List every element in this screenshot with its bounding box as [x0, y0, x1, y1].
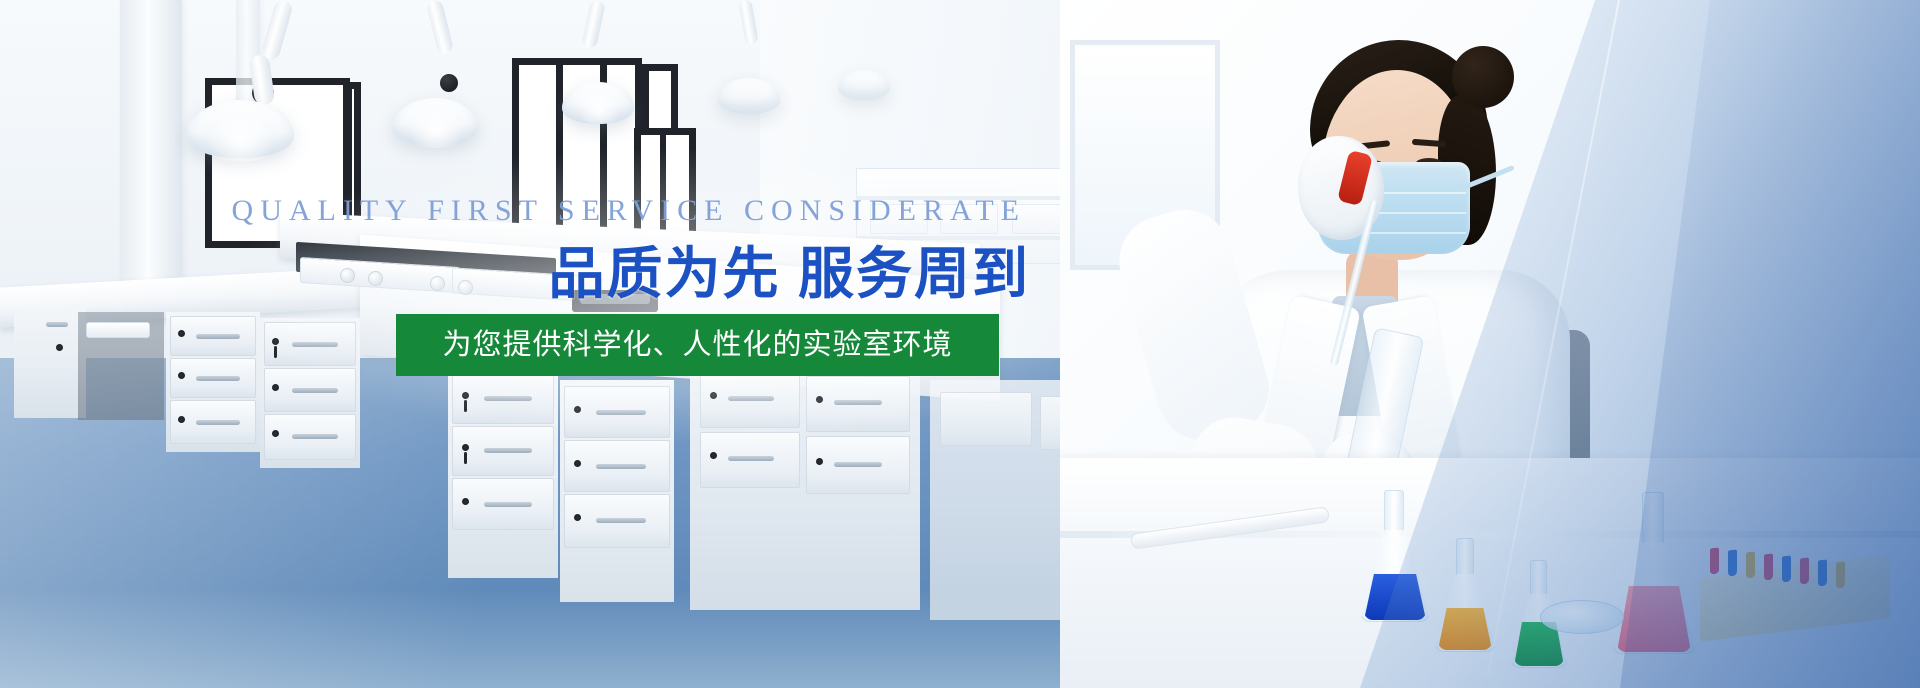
banner-eyebrow-english: QUALITY FIRST SERVICE CONSIDERATE [0, 196, 1030, 226]
fume-arm-joint [440, 74, 458, 92]
cabinet-lock [56, 344, 63, 351]
lamp-glow [402, 112, 470, 148]
hair-bun [1452, 46, 1514, 108]
drawer-lock [574, 514, 581, 521]
drawer-key [464, 452, 467, 464]
drawer-lock [710, 452, 717, 459]
lamp-glow [572, 94, 626, 124]
drawer-lock [178, 330, 185, 337]
drawer-lock [574, 460, 581, 467]
drawer-handle [596, 518, 646, 523]
drawer-lock [816, 458, 823, 465]
drawer-lock [462, 444, 469, 451]
drawer-handle [834, 462, 882, 467]
banner-subtitle-text: 为您提供科学化、人性化的实验室环境 [442, 331, 952, 360]
drawer-handle [484, 448, 532, 453]
drawer-lock [178, 416, 185, 423]
drawer-lock [178, 372, 185, 379]
hero-banner: QUALITY FIRST SERVICE CONSIDERATE 品质为先 服… [0, 0, 1920, 688]
drawer-lock [462, 498, 469, 505]
banner-copy: QUALITY FIRST SERVICE CONSIDERATE 品质为先 服… [0, 196, 1030, 304]
dome-lamp [838, 70, 890, 100]
drawer-handle [484, 502, 532, 507]
banner-headline: 品质为先 服务周到 [0, 244, 1030, 304]
cabinet-handle [46, 322, 68, 327]
drawer-handle [596, 464, 646, 469]
bench-tray [86, 322, 150, 338]
dome-lamp [718, 78, 780, 114]
drawer-handle [728, 456, 774, 461]
banner-subtitle-bar: 为您提供科学化、人性化的实验室环境 [396, 314, 999, 376]
